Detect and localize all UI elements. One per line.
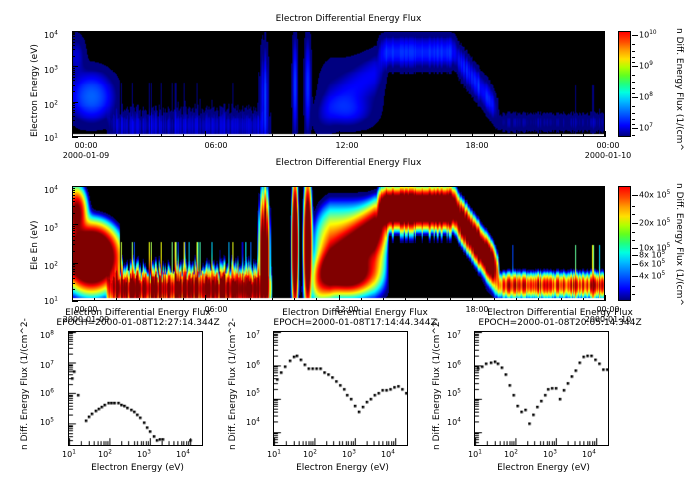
axis-tick [450,298,451,301]
panel2-spectrogram [72,186,605,301]
panel3-ylabel: n Diff. Energy Flux (1/(cm^2- [20,318,30,450]
panel4-ytick-1e4: 104 [246,418,260,427]
axis-tick [72,72,75,73]
axis-tick [72,126,75,127]
axis-tick [72,105,75,106]
panel3-ytick-1e5: 105 [40,418,54,427]
panel1-ytick-1e4: 104 [44,31,58,40]
axis-tick [361,298,362,301]
panel5-ytick-1e6: 106 [447,361,461,370]
panel5-ytick-1e4: 104 [447,418,461,427]
panel3-xtick-1e1: 101 [62,450,76,459]
axis-tick [316,134,317,137]
panel3-xtick-1e3: 103 [137,450,151,459]
axis-tick [205,131,206,137]
axis-tick [72,74,75,75]
axis-tick [72,206,75,207]
axis-tick [183,298,184,301]
axis-tick [516,298,517,301]
axis-tick [72,36,75,37]
axis-tick [72,301,78,302]
axis-tick [72,49,75,50]
panel5-ylabel: n Diff. Energy Flux (1/(cm^2- [432,318,442,450]
axis-tick [72,80,75,81]
panel1-colorbar-label-wrap: n Diff. Energy Flux (1/(cm^ [684,28,697,38]
panel1-spectrogram [72,31,605,137]
panel2-ytick-1e3: 103 [44,224,58,233]
panel5-ytick-1e5: 105 [447,389,461,398]
panel2-colorbar-label: n Diff. Energy Flux (1/(cm^ [674,183,684,306]
axis-tick [361,134,362,137]
axis-tick [72,251,75,252]
panel3-subtitle: EPOCH=2000-01-08T12:27:14.344Z [38,318,238,328]
axis-tick [72,31,78,32]
axis-tick [272,134,273,137]
axis-tick [72,228,75,229]
panel1-xtick-1: 06:00 [186,141,246,150]
axis-tick [72,186,78,187]
axis-tick [72,198,75,199]
axis-tick [72,269,75,270]
panel2-ylabel: Ele En (eV) [30,220,40,270]
axis-tick [72,116,75,117]
panel3-ytick-1e6: 106 [40,389,54,398]
axis-tick [72,236,75,237]
axis-tick [72,240,75,241]
axis-tick [72,244,75,245]
axis-tick [294,134,295,137]
axis-tick [227,134,228,137]
panel1-xtick-4: 00:00 [578,141,638,150]
panel1-ytick-1e2: 102 [44,101,58,110]
axis-tick [72,103,75,104]
axis-tick [450,134,451,137]
axis-tick [227,298,228,301]
axis-tick [405,134,406,137]
axis-tick [494,134,495,137]
panel4-ylabel-wrap: n Diff. Energy Flux (1/(cm^2- [228,450,360,460]
panel2-colorbar [618,186,631,301]
panel3-ytick-1e8: 108 [40,331,54,340]
axis-tick [72,195,75,196]
panel4-xtick-1e1: 101 [267,450,281,459]
panel5-xlabel: Electron Energy (eV) [466,463,621,473]
axis-tick [205,295,206,301]
axis-tick [72,112,75,113]
axis-tick [72,190,75,191]
axis-tick [72,66,78,67]
axis-tick [183,134,184,137]
panel2-title: Electron Differential Energy Flux [0,158,697,168]
axis-tick [72,77,75,78]
axis-tick [72,107,75,108]
axis-tick [72,263,78,264]
panel3-xtick-1e4: 104 [176,450,190,459]
axis-tick [72,224,78,225]
panel1-title: Electron Differential Energy Flux [0,14,697,24]
axis-tick [72,42,75,43]
axis-tick [72,266,75,267]
axis-tick [139,134,140,137]
axis-tick [605,131,606,137]
axis-tick [472,295,473,301]
axis-tick [250,134,251,137]
axis-tick [94,134,95,137]
panel4-xlabel: Electron Energy (eV) [265,463,420,473]
panel1-colorbar-label: n Diff. Energy Flux (1/(cm^ [674,28,684,151]
axis-tick [72,213,75,214]
panel4-xtick-1e4: 104 [381,450,395,459]
axis-tick [72,33,75,34]
panel2-colorbar-label-wrap: n Diff. Energy Flux (1/(cm^ [684,183,697,193]
panel4-ytick-1e7: 107 [246,331,260,340]
axis-tick [72,91,75,92]
axis-tick [72,34,75,35]
axis-tick [316,298,317,301]
axis-tick [72,226,75,227]
panel1-ytick-1e3: 103 [44,66,58,75]
panel1-xtick-3: 18:00 [447,141,507,150]
axis-tick [339,131,340,137]
axis-tick [405,298,406,301]
panel4-xtick-1e2: 102 [303,450,317,459]
axis-tick [116,134,117,137]
axis-tick [250,298,251,301]
axis-tick [383,134,384,137]
axis-tick [339,295,340,301]
panel5-xtick-1e2: 102 [504,450,518,459]
panel3-plot [68,331,203,446]
axis-tick [538,134,539,137]
axis-tick [472,131,473,137]
axis-tick [139,298,140,301]
axis-tick [72,70,75,71]
panel5-xtick-1e1: 101 [468,450,482,459]
panel4-subtitle: EPOCH=2000-01-08T17:14:44.344Z [255,318,455,328]
panel4-ytick-1e5: 105 [246,389,260,398]
axis-tick [427,298,428,301]
axis-tick [72,56,75,57]
axis-tick [72,274,75,275]
panel4-ylabel: n Diff. Energy Flux (1/(cm^2- [228,318,238,450]
axis-tick [72,283,75,284]
axis-tick [72,68,75,69]
axis-tick [72,230,75,231]
panel3-ylabel-wrap: n Diff. Energy Flux (1/(cm^2- [20,450,152,460]
axis-tick [72,188,75,189]
panel5-title: Electron Differential Energy Flux [460,308,660,318]
axis-tick [161,298,162,301]
axis-tick [72,192,75,193]
axis-tick [516,134,517,137]
panel3-ytick-1e7: 107 [40,361,54,370]
axis-tick [72,271,75,272]
panel5-ytick-1e7: 107 [447,331,461,340]
panel3-xlabel: Electron Energy (eV) [60,463,215,473]
axis-tick [272,298,273,301]
panel5-plot [474,331,609,446]
panel1-colorbar [618,31,631,137]
panel1-xtick-0: 00:00 [56,141,116,150]
panel5-xtick-1e4: 104 [582,450,596,459]
axis-tick [161,134,162,137]
axis-tick [72,110,75,111]
axis-tick [583,298,584,301]
panel2-ytick-1e4: 104 [44,186,58,195]
axis-tick [427,134,428,137]
axis-tick [72,85,75,86]
panel3-title: Electron Differential Energy Flux [38,308,238,318]
axis-tick [605,295,606,301]
panel5-xtick-1e3: 103 [543,450,557,459]
panel4-title: Electron Differential Energy Flux [255,308,455,318]
panel4-xtick-1e3: 103 [342,450,356,459]
panel4-plot [273,331,408,446]
axis-tick [72,45,75,46]
panel1-xtick-2: 12:00 [317,141,377,150]
axis-tick [72,120,75,121]
axis-tick [383,298,384,301]
axis-tick [72,201,75,202]
axis-tick [72,278,75,279]
axis-tick [538,298,539,301]
axis-tick [583,134,584,137]
axis-tick [94,298,95,301]
axis-tick [116,298,117,301]
axis-tick [72,233,75,234]
panel5-subtitle: EPOCH=2000-01-08T20:05:14.344Z [460,318,660,328]
axis-tick [72,39,75,40]
panel4-ytick-1e6: 106 [246,361,260,370]
axis-tick [72,264,75,265]
panel2-ytick-1e2: 102 [44,262,58,271]
axis-tick [72,137,78,138]
axis-tick [561,134,562,137]
axis-tick [294,298,295,301]
axis-tick [72,102,78,103]
axis-tick [72,289,75,290]
panel3-xtick-1e2: 102 [98,450,112,459]
panel1-ylabel: Electron Energy (eV) [30,44,40,137]
axis-tick [561,298,562,301]
axis-tick [494,298,495,301]
